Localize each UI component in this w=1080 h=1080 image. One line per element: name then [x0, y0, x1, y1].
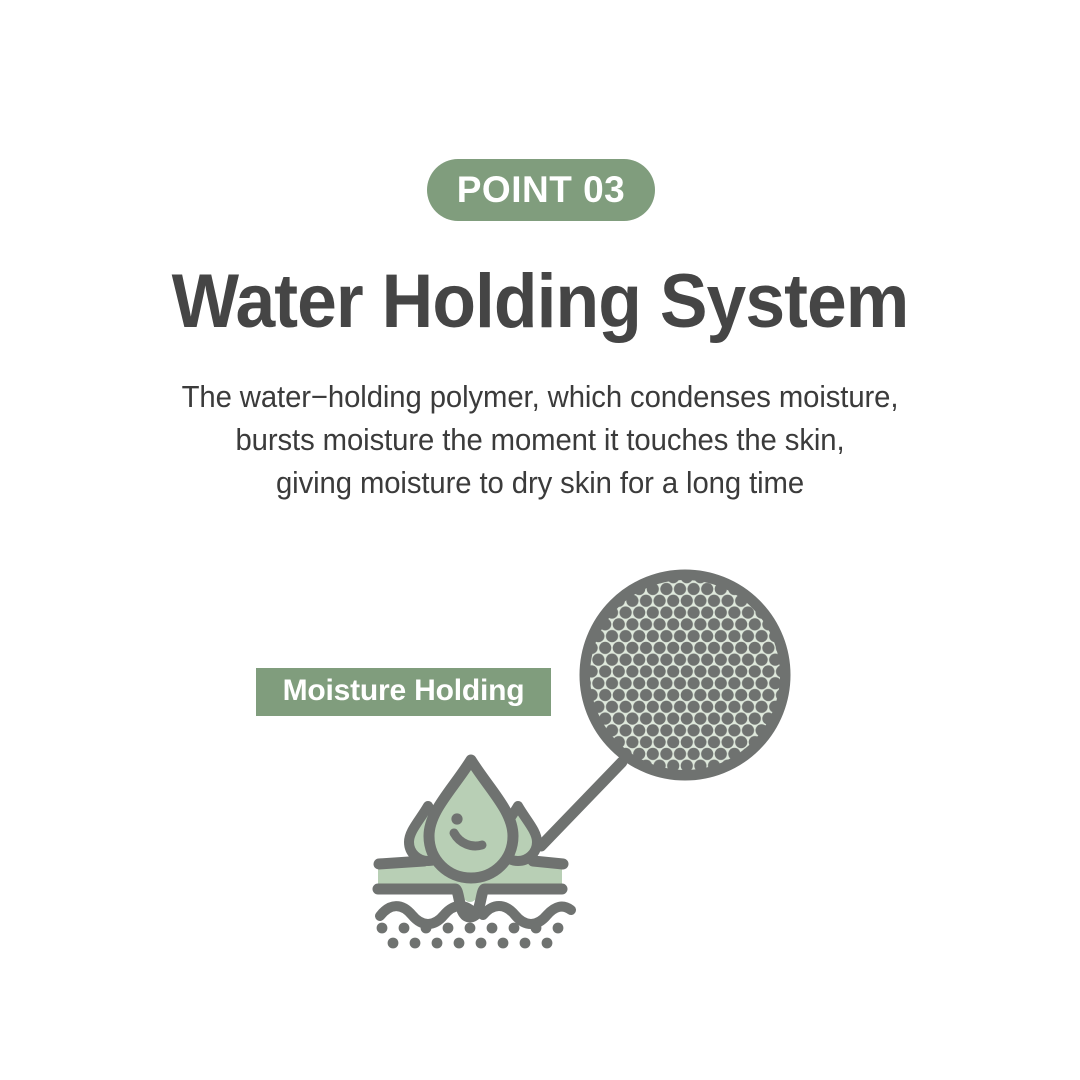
- dermis-dot-row-lower: [388, 938, 553, 949]
- skin-surface-top-line-left: [379, 861, 424, 864]
- skin-surface-bottom-line: [378, 889, 562, 917]
- description-text: The water−holding polymer, which condens…: [22, 376, 1059, 505]
- point-badge: POINT 03: [427, 159, 655, 221]
- magnifier-circle-icon: [585, 575, 785, 775]
- skin-surface-band-fill: [378, 862, 562, 902]
- droplet-highlight-curve: [454, 833, 482, 846]
- description-line-1: The water−holding polymer, which condens…: [22, 376, 1059, 419]
- large-water-droplet-icon: [429, 760, 513, 878]
- droplet-highlight-dot: [451, 813, 462, 824]
- magnifier-dot-field: [585, 575, 785, 775]
- magnifier-handle-icon: [541, 762, 622, 846]
- moisture-holding-tag-label: Moisture Holding: [283, 676, 525, 709]
- small-water-droplet-left-icon: [409, 806, 447, 861]
- small-water-droplet-right-icon: [499, 806, 537, 861]
- dermis-wave-line-right: [483, 906, 571, 924]
- dermis-wave-line-left: [380, 906, 476, 924]
- point-03-slide: POINT 03 Water Holding System The water−…: [0, 0, 1080, 1080]
- dermis-dot-row-upper: [377, 923, 564, 934]
- page-title: Water Holding System: [32, 262, 1047, 342]
- description-line-2: bursts moisture the moment it touches th…: [22, 419, 1059, 462]
- moisture-holding-tag: Moisture Holding: [256, 668, 551, 716]
- skin-surface-top-line-right: [533, 861, 563, 864]
- point-badge-label: POINT 03: [457, 171, 626, 210]
- description-line-3: giving moisture to dry skin for a long t…: [22, 462, 1059, 505]
